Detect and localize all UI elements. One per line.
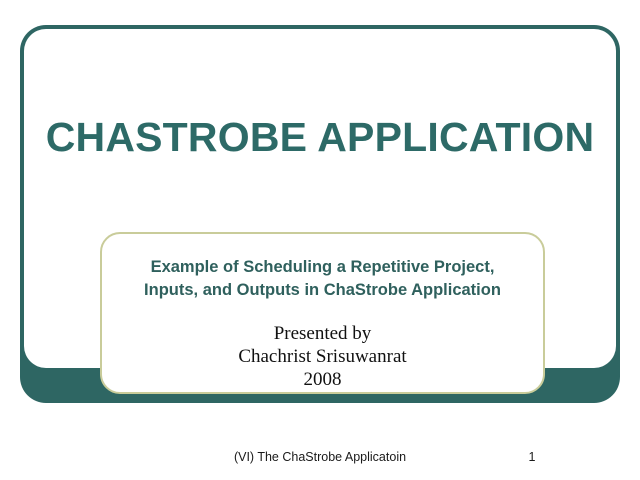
- footer-page-number: 1: [505, 450, 559, 464]
- presenter-block: Presented by Chachrist Srisuwanrat 2008: [102, 322, 543, 391]
- slide-subtitle-line-2: Inputs, and Outputs in ChaStrobe Applica…: [102, 279, 543, 302]
- slide-title: CHASTROBE APPLICATION: [30, 112, 610, 162]
- author-name: Chachrist Srisuwanrat: [102, 345, 543, 368]
- slide-subtitle: Example of Scheduling a Repetitive Proje…: [102, 256, 543, 302]
- slide-subtitle-line-1: Example of Scheduling a Repetitive Proje…: [102, 256, 543, 279]
- presentation-year: 2008: [102, 368, 543, 391]
- presented-by-label: Presented by: [102, 322, 543, 345]
- slide-canvas: CHASTROBE APPLICATION Example of Schedul…: [0, 0, 640, 480]
- subtitle-callout-box: Example of Scheduling a Repetitive Proje…: [100, 232, 545, 394]
